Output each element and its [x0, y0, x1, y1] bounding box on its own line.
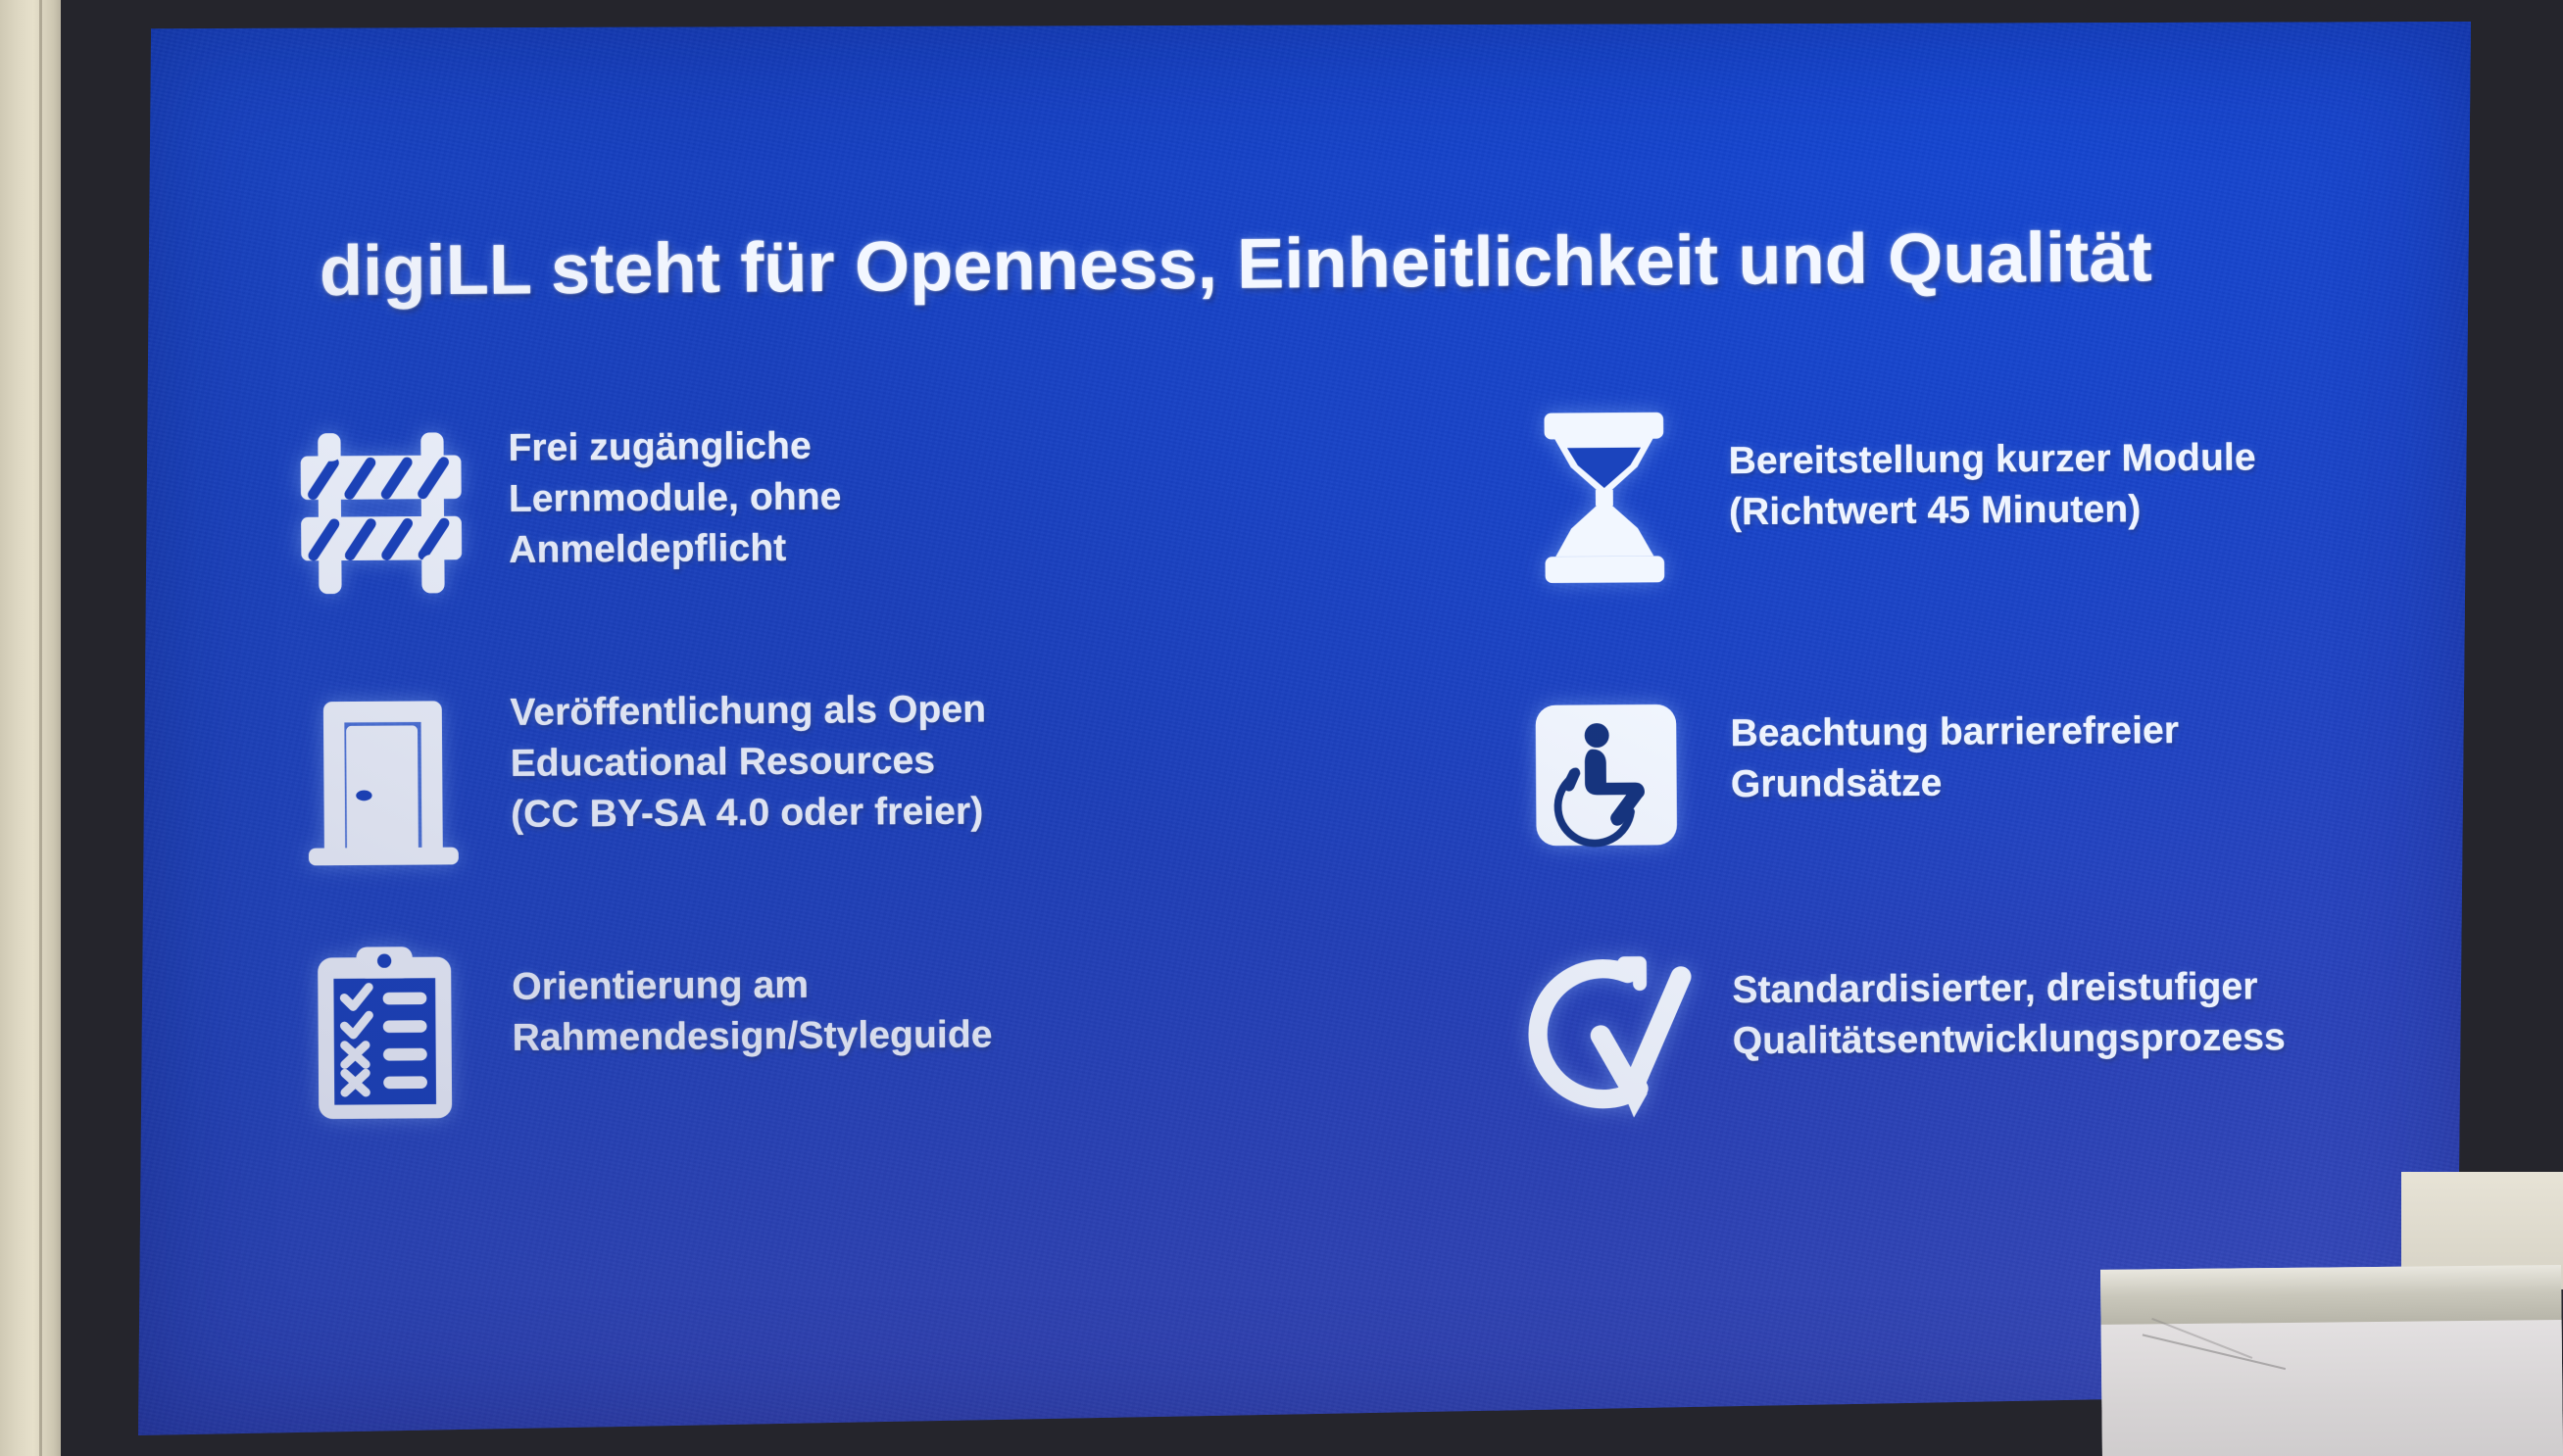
wall-strip — [0, 0, 61, 1456]
slide-title: digiLL steht für Openness, Einheitlichke… — [320, 219, 2330, 310]
feature-item-label: Beachtung barrierefreier Grundsätze — [1730, 660, 2180, 810]
feature-item-qualitaetsentwicklungsprozess: Standardisierter, dreistufiger Qualitäts… — [1335, 922, 2376, 1191]
open-door-icon — [294, 686, 471, 873]
presentation-slide: digiLL steht für Openness, Einheitlichke… — [138, 22, 2471, 1435]
feature-line: Anmeldepflicht — [509, 522, 842, 575]
feature-item-label: Orientierung am Rahmendesign/Styleguide — [512, 931, 993, 1063]
feature-line: Educational Resources — [511, 735, 987, 789]
feature-item-label: Frei zugängliche Lernmodule, ohne Anmeld… — [508, 408, 842, 576]
flipchart-board — [2100, 1265, 2563, 1456]
feature-line: Frei zugängliche — [508, 421, 841, 474]
feature-item-bereitstellung-kurzer-module: Bereitstellung kurzer Module (Richtwert … — [1331, 397, 2372, 666]
feature-line: Standardisierter, dreistufiger — [1732, 961, 2285, 1016]
feature-item-label: Bereitstellung kurzer Module (Richtwert … — [1728, 397, 2256, 537]
feature-item-veroeffentlichung-als-oer: Veröffentlichung als Open Educational Re… — [294, 666, 1335, 936]
feature-line: Beachtung barrierefreier — [1730, 705, 2179, 759]
clipboard-checklist-icon — [296, 941, 473, 1128]
feature-item-label: Veröffentlichung als Open Educational Re… — [510, 668, 987, 840]
feature-grid: Frei zugängliche Lernmodule, ohne Anmeld… — [292, 397, 2376, 1199]
feature-line: Lernmodule, ohne — [509, 471, 842, 524]
feature-line: (Richtwert 45 Minuten) — [1729, 483, 2256, 538]
wheelchair-accessibility-icon — [1519, 681, 1692, 868]
feature-line: Bereitstellung kurzer Module — [1728, 432, 2255, 487]
feature-line: Orientierung am — [512, 958, 992, 1012]
slide-content: digiLL steht für Openness, Einheitlichke… — [138, 22, 2471, 1435]
photo-scene: digiLL steht für Openness, Einheitlichke… — [0, 0, 2563, 1456]
cycle-check-icon — [1521, 940, 1694, 1127]
flipchart-rail — [2100, 1265, 2562, 1327]
road-barrier-icon — [292, 419, 469, 607]
hourglass-icon — [1517, 403, 1690, 590]
feature-line: Qualitätsentwicklungsprozess — [1733, 1012, 2286, 1067]
feature-item-orientierung-am-rahmendesign: Orientierung am Rahmendesign/Styleguide — [296, 929, 1337, 1198]
feature-item-beachtung-barrierefreier-grundsaetze: Beachtung barrierefreier Grundsätze — [1333, 659, 2374, 929]
feature-item-label: Standardisierter, dreistufiger Qualitäts… — [1732, 922, 2286, 1067]
feature-line: (CC BY-SA 4.0 oder freier) — [511, 786, 987, 840]
feature-line: Veröffentlichung als Open — [510, 684, 986, 738]
feature-item-frei-zugaengliche-lernmodule: Frei zugängliche Lernmodule, ohne Anmeld… — [292, 404, 1333, 673]
feature-line: Rahmendesign/Styleguide — [513, 1009, 993, 1063]
feature-line: Grundsätze — [1731, 756, 2180, 810]
